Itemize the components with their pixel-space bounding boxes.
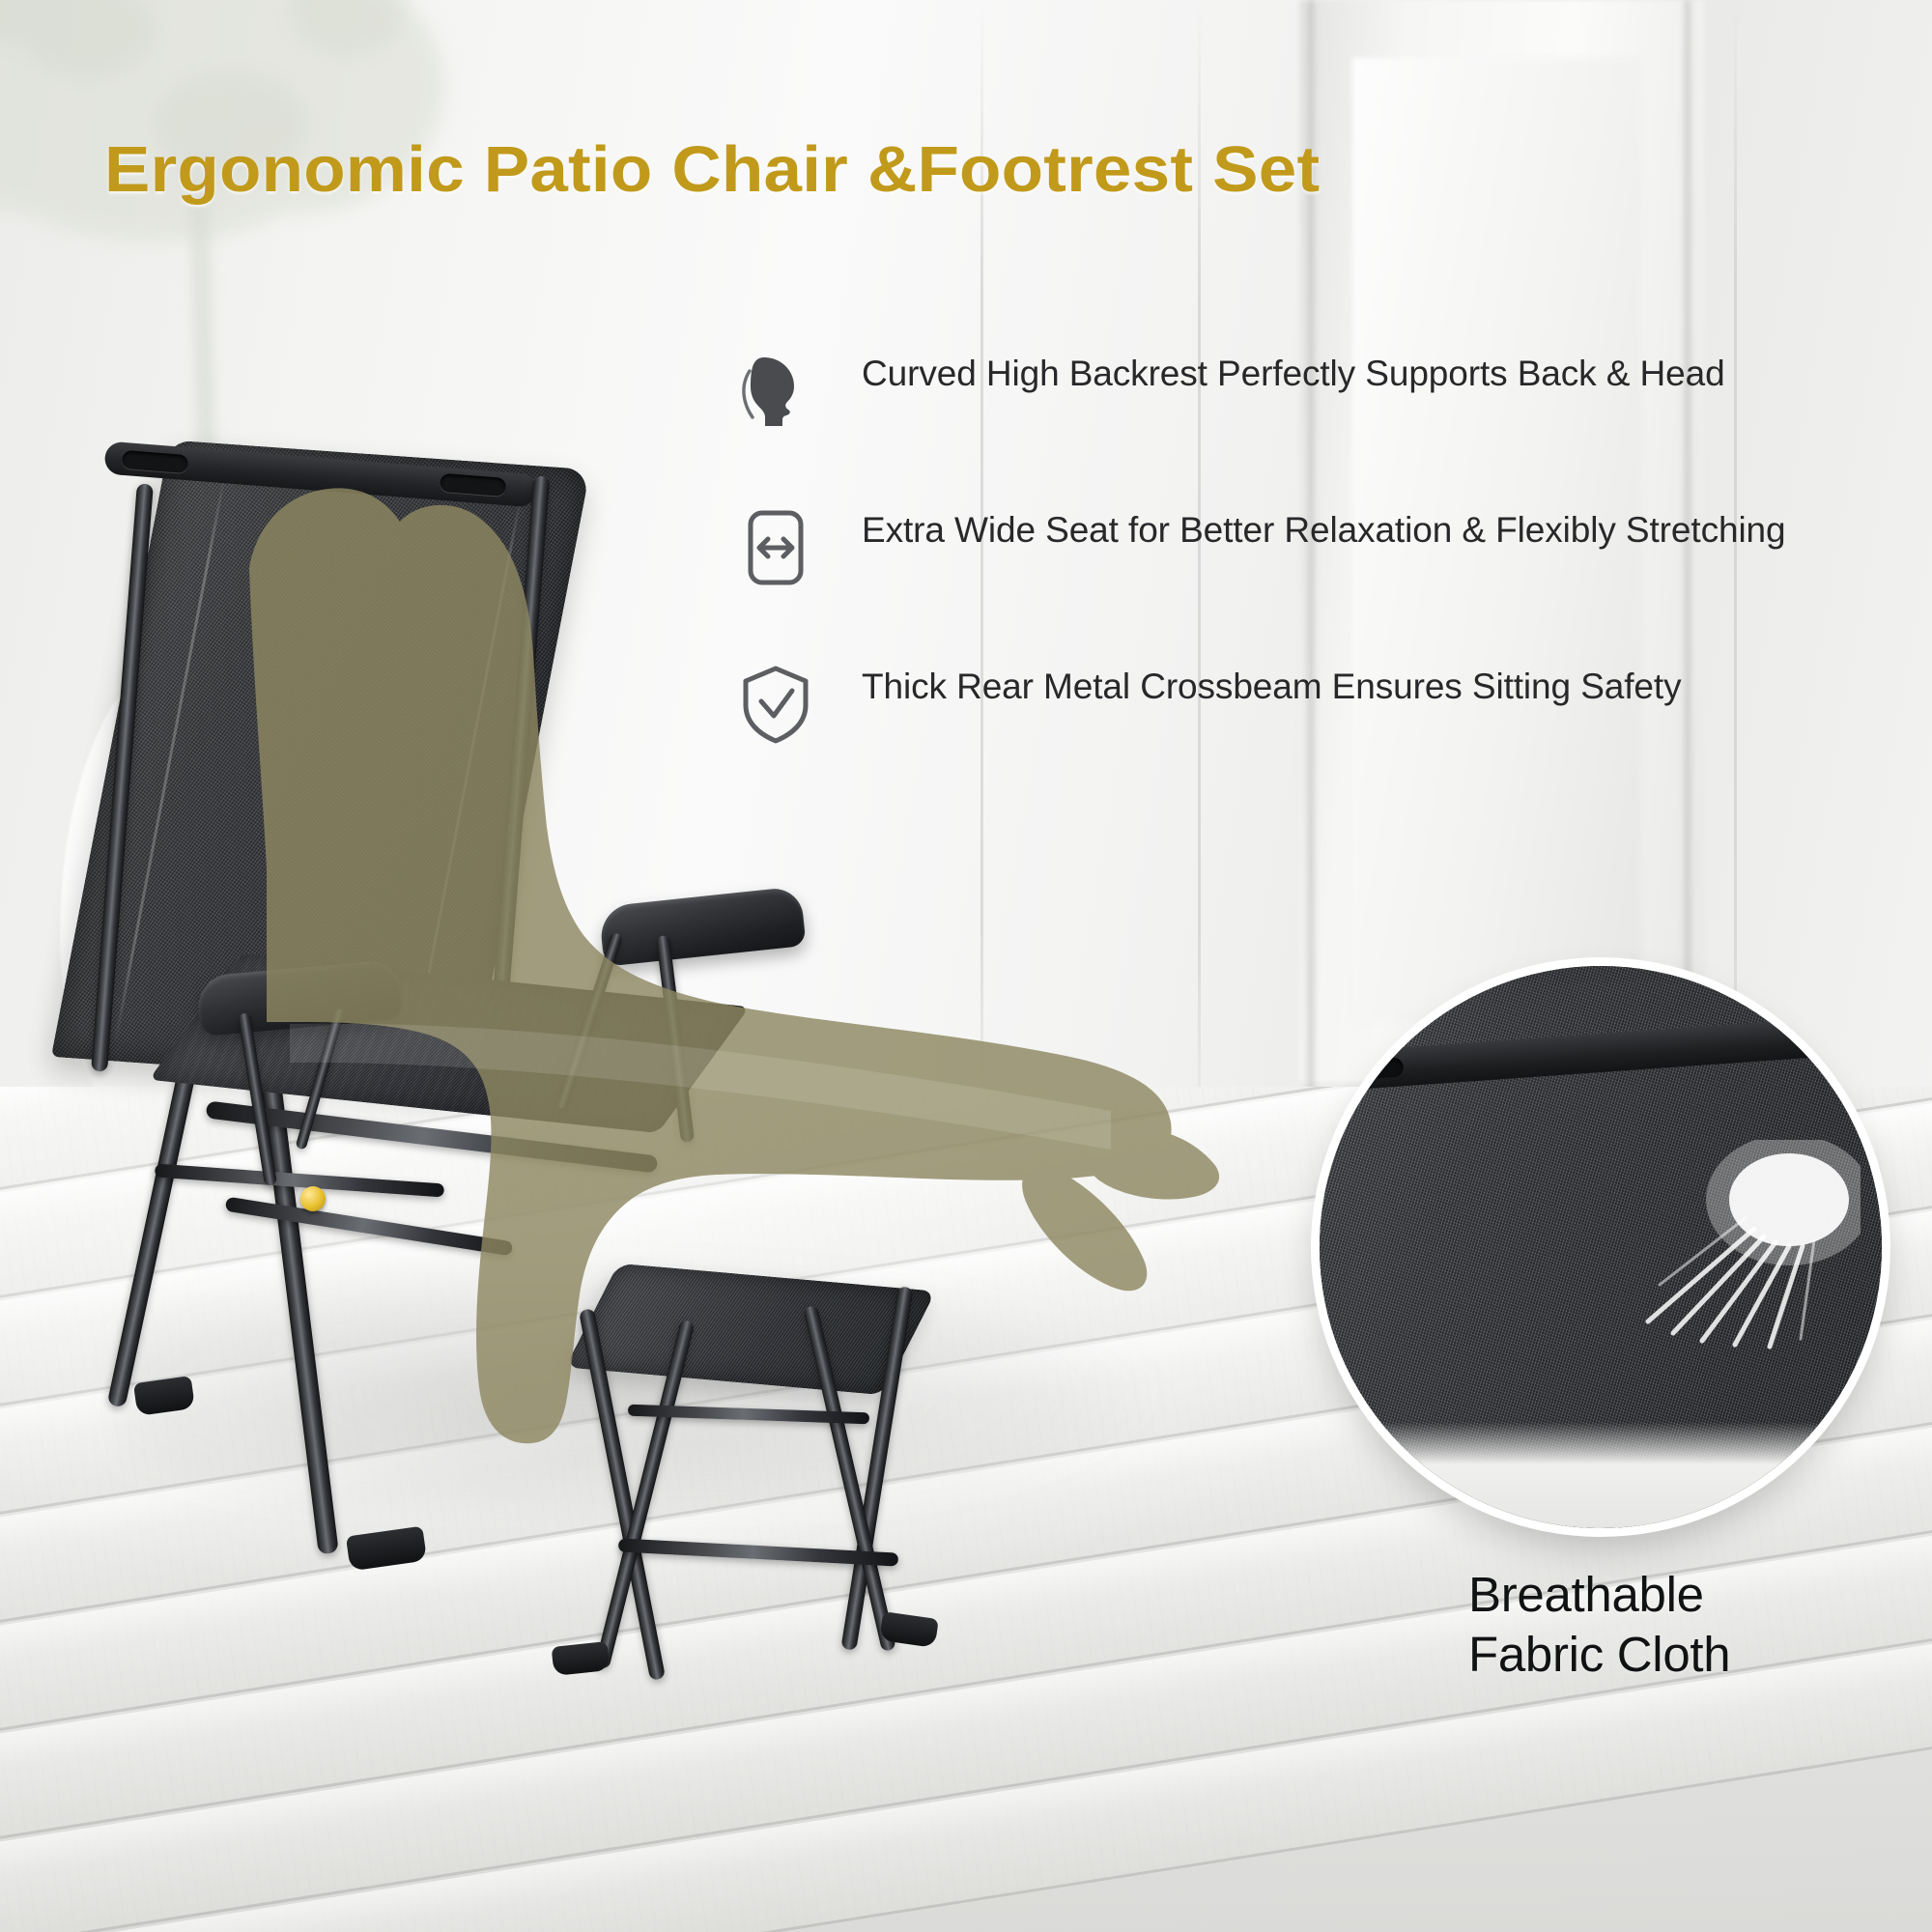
feature-item: Thick Rear Metal Crossbeam Ensures Sitti… (734, 661, 1874, 746)
breathable-fabric-inset (1320, 966, 1882, 1528)
feature-item: Extra Wide Seat for Better Relaxation & … (734, 504, 1874, 589)
chair-rear-crossbeam (155, 1164, 444, 1198)
shield-check-icon (734, 663, 817, 746)
chair-lower-crossbeam (225, 1197, 514, 1257)
ottoman-fabric (565, 1264, 936, 1395)
inset-handle-slot (1821, 1021, 1882, 1045)
feature-list: Curved High Backrest Perfectly Supports … (734, 348, 1874, 817)
chair-rear-foot-cap (133, 1376, 195, 1416)
caption-line-1: Breathable (1468, 1565, 1730, 1625)
inset-caption: Breathable Fabric Cloth (1468, 1565, 1730, 1685)
recline-adjust-knob[interactable] (300, 1186, 326, 1211)
carry-handle-slot (440, 473, 506, 497)
feature-text: Thick Rear Metal Crossbeam Ensures Sitti… (862, 661, 1682, 713)
chair-front-leg (261, 1083, 339, 1555)
ottoman-foot-cap (552, 1641, 611, 1676)
head-profile-icon (734, 350, 817, 433)
feature-text: Extra Wide Seat for Better Relaxation & … (862, 504, 1786, 556)
feature-text: Curved High Backrest Perfectly Supports … (862, 348, 1725, 400)
chair-armrest-right (598, 886, 806, 967)
inset-handle-slot (1331, 1057, 1404, 1081)
horizontal-double-arrow-icon (734, 506, 817, 589)
feature-item: Curved High Backrest Perfectly Supports … (734, 348, 1874, 433)
page-title: Ergonomic Patio Chair &Footrest Set (104, 137, 1320, 202)
caption-line-2: Fabric Cloth (1468, 1625, 1730, 1685)
carry-handle-slot (122, 450, 188, 473)
inset-deck-floor (1320, 1422, 1882, 1528)
product-marketing-image: Ergonomic Patio Chair &Footrest Set Curv… (0, 0, 1932, 1932)
chair-front-foot-cap (346, 1526, 427, 1572)
